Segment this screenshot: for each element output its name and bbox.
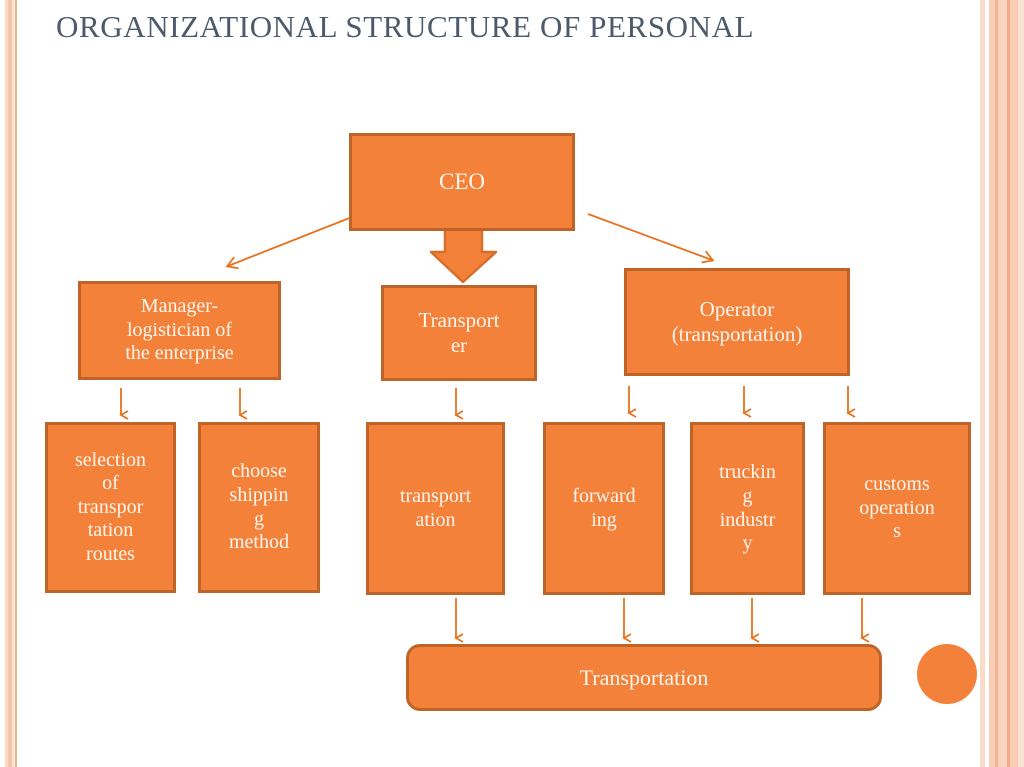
node-trucking-industry-label: truckin g industr y [697, 461, 798, 555]
stripe-segment [998, 0, 1007, 767]
node-customs-operations[interactable]: customs operation s [823, 422, 971, 595]
node-forwarding-label: forward ing [550, 485, 658, 532]
node-manager-logistician[interactable]: Manager- logistician of the enterprise [78, 281, 281, 380]
stripe-segment [989, 0, 995, 767]
stripe-segment [15, 0, 17, 767]
node-transportation[interactable]: transport ation [366, 422, 505, 595]
edge-ceo-to-manager [228, 217, 352, 266]
node-choose-shipping-method[interactable]: choose shippin g method [198, 422, 320, 593]
node-selection-of-routes[interactable]: selection of transpor tation routes [45, 422, 176, 593]
stripe-segment [1018, 0, 1024, 767]
node-transporter-label: Transport er [388, 308, 530, 358]
node-ceo-label: CEO [356, 168, 568, 195]
node-transportation-summary-label: Transportation [413, 665, 875, 691]
node-manager-logistician-label: Manager- logistician of the enterprise [85, 295, 274, 366]
node-operator-label: Operator (transportation) [631, 297, 843, 347]
stripe-segment [1007, 0, 1010, 767]
page-title: ORGANIZATIONAL STRUCTURE OF PERSONAL [56, 4, 756, 50]
node-selection-of-routes-label: selection of transpor tation routes [52, 449, 169, 567]
stripe-segment [17, 0, 21, 767]
edge-ceo-to-operator [588, 214, 712, 260]
node-transportation-label: transport ation [373, 485, 498, 532]
right-edge-decoration [974, 0, 1024, 767]
stripe-segment [5, 0, 8, 767]
node-choose-shipping-method-label: choose shippin g method [205, 460, 313, 554]
edge-ceo-to-transporter-block-arrow [431, 229, 496, 282]
stripe-segment [974, 0, 980, 767]
left-edge-decoration [0, 0, 34, 767]
slide-canvas: ORGANIZATIONAL STRUCTURE OF PERSONAL [0, 0, 1024, 767]
stripe-segment [985, 0, 989, 767]
node-trucking-industry[interactable]: truckin g industr y [690, 422, 805, 595]
node-operator[interactable]: Operator (transportation) [624, 268, 850, 376]
node-transporter[interactable]: Transport er [381, 285, 537, 381]
stripe-segment [995, 0, 998, 767]
decorative-circle [917, 644, 977, 704]
stripe-segment [12, 0, 15, 767]
node-customs-operations-label: customs operation s [830, 473, 964, 544]
node-ceo[interactable]: CEO [349, 133, 575, 231]
stripe-segment [980, 0, 985, 767]
stripe-segment [0, 0, 5, 767]
node-forwarding[interactable]: forward ing [543, 422, 665, 595]
node-transportation-summary[interactable]: Transportation [406, 644, 882, 711]
stripe-segment [8, 0, 12, 767]
stripe-segment [1010, 0, 1018, 767]
